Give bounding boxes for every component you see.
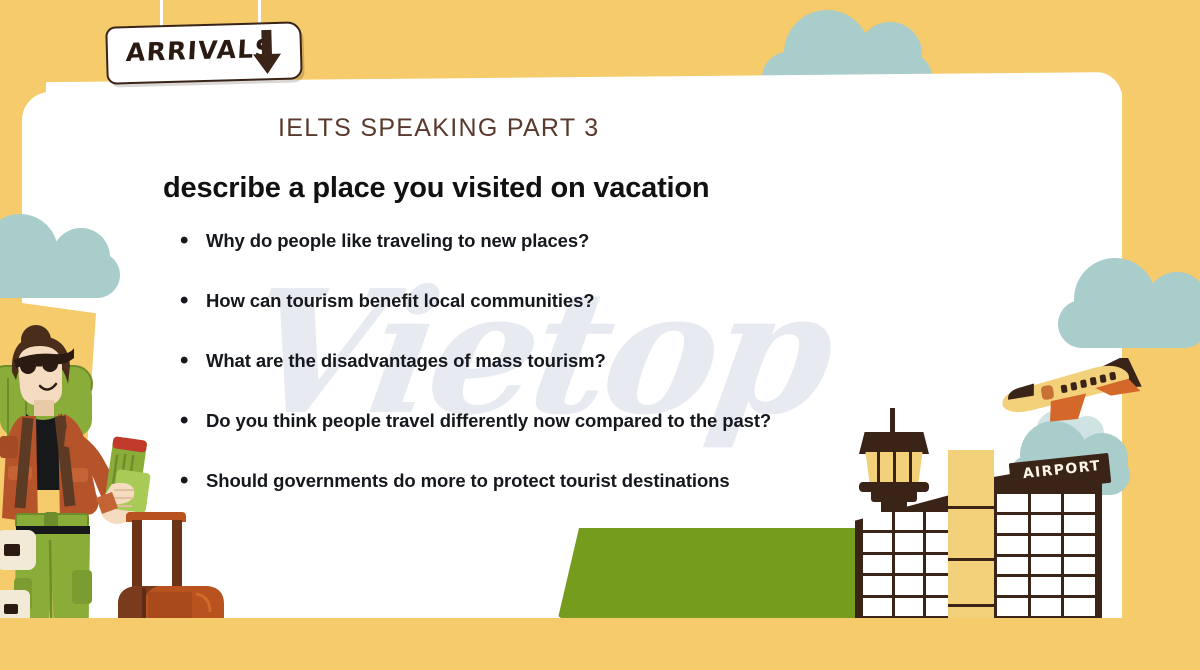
list-item: Why do people like traveling to new plac… (178, 230, 978, 252)
page-eyebrow: IELTS SPEAKING PART 3 (278, 114, 599, 143)
page-title: describe a place you visited on vacation (163, 172, 709, 205)
arrivals-sign: ARRIVALS (100, 0, 330, 100)
tower-roof (859, 432, 929, 454)
down-arrow-icon (249, 28, 284, 82)
bottom-band (0, 618, 1200, 670)
terminal-right-windows (997, 494, 1095, 616)
airplane-icon (990, 358, 1150, 430)
terminal-center-block (948, 450, 994, 622)
center-block-line (948, 558, 994, 561)
center-block-line (948, 506, 994, 509)
list-item: How can tourism benefit local communitie… (178, 290, 978, 312)
airport-terminal-icon: AIRPORT (845, 400, 1135, 625)
slide-canvas: Vietop IELTS SPEAKING PART 3 describe a … (0, 0, 1200, 670)
center-block-line (948, 604, 994, 607)
list-item: What are the disadvantages of mass touri… (178, 350, 978, 372)
terminal-left-windows (863, 512, 955, 616)
tower-plinth (859, 482, 929, 492)
